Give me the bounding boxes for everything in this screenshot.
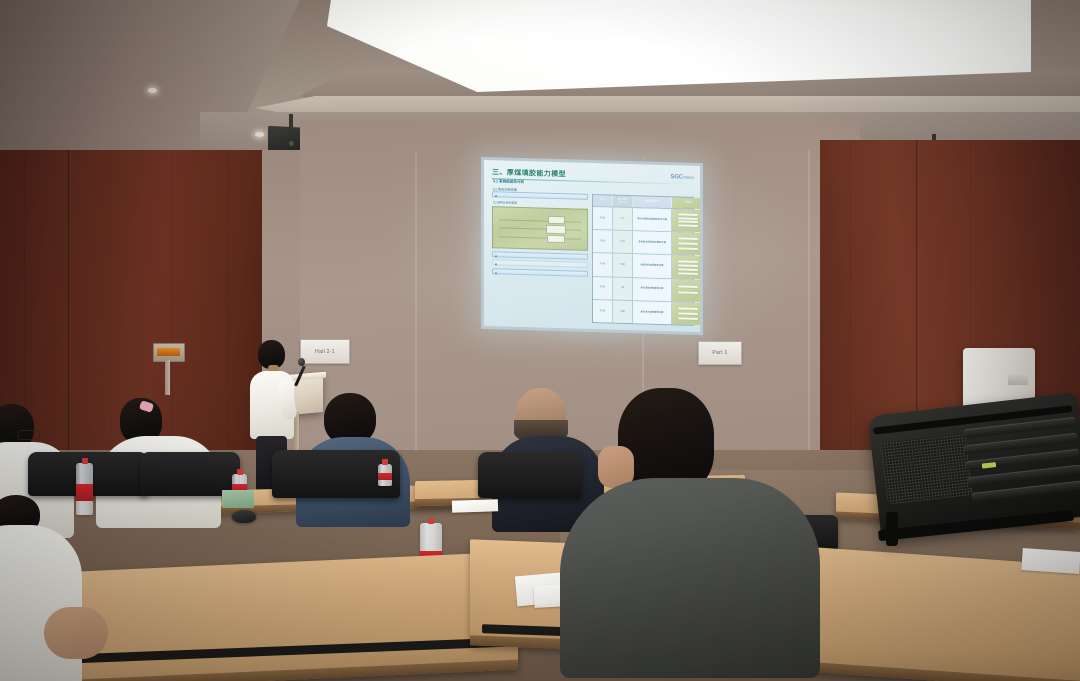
wood-grain xyxy=(110,150,111,480)
table-cell-desc: 填充式填胶结构模型技术方案 xyxy=(633,208,672,231)
slide-text-block xyxy=(492,259,588,268)
slide-data-table: 序号 技术参数 (kN·m) 结构功能描述 示意图 TJ-01 2.1 填充式填… xyxy=(592,194,694,326)
mini-bar xyxy=(678,238,698,241)
mini-diagram xyxy=(673,212,700,229)
attendee-arm xyxy=(44,607,108,659)
wall-seam xyxy=(808,150,810,460)
wood-grain xyxy=(228,150,229,480)
table-header-cell: 示意图 xyxy=(672,197,700,209)
table-cell-figure xyxy=(672,279,700,302)
table-row: TJ-01 2.1 填充式填胶结构模型技术方案 xyxy=(593,206,693,232)
paper-stack xyxy=(452,499,498,513)
attendee-torso xyxy=(560,478,820,678)
downlight xyxy=(255,132,264,137)
diagram-lane xyxy=(499,236,582,239)
bottle-label xyxy=(378,473,392,480)
table-cell-value: 1.8 xyxy=(613,277,633,300)
wood-grain xyxy=(850,140,851,490)
mini-diagram xyxy=(673,259,700,276)
mini-bar xyxy=(678,224,698,227)
table-cell-figure xyxy=(672,256,700,279)
projection-screen: 三、厚煤填胶能力模型 SGC中国石化 3.1 系统组成及分析 (1) 填充分析结… xyxy=(481,157,703,335)
mini-bar xyxy=(678,313,698,316)
mini-diagram xyxy=(673,235,700,252)
wall-seam xyxy=(415,152,417,452)
mini-bar xyxy=(678,221,698,224)
mini-bar xyxy=(678,269,698,272)
slide-diagram-image xyxy=(492,206,588,251)
table-cell-desc: 柔性填胶结构模型方案 xyxy=(633,278,672,301)
speaker-driver-dot xyxy=(289,141,294,146)
cart-label-tag xyxy=(982,462,996,469)
cart-mesh-panel xyxy=(881,433,973,504)
slide-text-block xyxy=(492,251,588,260)
table-cell-code: TJ-03 xyxy=(593,253,613,276)
wall-sign-right: Part 1 xyxy=(698,341,742,365)
wood-grain xyxy=(172,150,173,480)
attendee-head xyxy=(516,388,566,442)
table-row: TJ-04 1.8 柔性填胶结构模型方案 xyxy=(593,276,693,302)
wood-seam xyxy=(68,150,71,480)
wall-plate-stem xyxy=(165,360,170,395)
logo-text: SGC xyxy=(670,174,682,180)
diagram-shape xyxy=(546,225,567,234)
table-cell-figure xyxy=(672,232,700,255)
slide-text-block xyxy=(492,268,588,277)
table-row: TJ-02 3.45 多层复合填胶结构模型方案 xyxy=(593,229,693,255)
slide-title: 三、厚煤填胶能力模型 xyxy=(492,167,566,179)
table-row: TJ-03 5.60 填胶结构加固模型方案 xyxy=(593,252,693,278)
company-logo: SGC中国石化 xyxy=(670,174,694,181)
downlight xyxy=(148,88,157,93)
office-chair xyxy=(478,452,582,498)
mini-bar xyxy=(678,272,698,275)
microphone-icon xyxy=(298,358,305,366)
mini-bar xyxy=(678,291,698,294)
table-cell-value: 3.45 xyxy=(613,231,633,254)
mini-diagram xyxy=(673,282,700,299)
mini-bar xyxy=(678,317,698,320)
mini-bar xyxy=(678,308,698,311)
table-cell-figure xyxy=(672,302,700,325)
slide-left-column: (2) 结构分析示意图 xyxy=(492,191,588,323)
mini-diagram xyxy=(673,305,700,322)
mini-bar xyxy=(678,260,698,263)
mini-bar xyxy=(678,243,698,246)
conference-room-photo: Hall 2-1 Part 1 三、厚煤填胶能力模型 SGC中国石化 3.1 系… xyxy=(0,0,1080,681)
diagram-shape xyxy=(548,215,565,224)
mini-bar xyxy=(678,247,698,250)
ac-display-panel[interactable] xyxy=(1008,374,1028,385)
table-cell-code: TJ-05 xyxy=(593,300,613,323)
water-bottle[interactable] xyxy=(378,464,392,486)
mini-bar xyxy=(678,214,698,217)
mini-bar xyxy=(678,265,698,268)
table-cell-code: TJ-02 xyxy=(593,230,613,253)
presentation-slide: 三、厚煤填胶能力模型 SGC中国石化 3.1 系统组成及分析 (1) 填充分析结… xyxy=(484,160,700,332)
cart-leg xyxy=(886,512,898,546)
mini-bar xyxy=(678,217,698,220)
computer-mouse-icon[interactable] xyxy=(232,510,256,523)
table-row: TJ-05 4.05 复合填充结构模型方案 xyxy=(593,299,693,325)
table-cell-value: 5.60 xyxy=(613,254,633,277)
indicator-led-icon xyxy=(157,348,180,356)
diagram-lane xyxy=(499,219,582,222)
paper-stack xyxy=(1021,548,1080,574)
table-cell-code: TJ-01 xyxy=(593,207,613,230)
mini-bar xyxy=(678,286,698,289)
glasses-icon xyxy=(18,430,40,440)
notebook xyxy=(222,490,254,508)
diagram-lane xyxy=(499,228,582,231)
diagram-shape xyxy=(547,235,566,244)
table-cell-desc: 多层复合填胶结构模型方案 xyxy=(633,231,672,254)
bottle-label xyxy=(76,484,93,502)
table-cell-figure xyxy=(672,209,700,232)
wall-sign-left: Hall 2-1 xyxy=(300,339,350,364)
table-cell-desc: 复合填充结构模型方案 xyxy=(633,301,672,324)
logo-subtext: 中国石化 xyxy=(683,175,694,179)
water-bottle[interactable] xyxy=(76,463,93,515)
table-cell-value: 4.05 xyxy=(613,300,633,323)
conference-table-front xyxy=(58,552,518,681)
slide-section-heading: 3.1 系统组成及分析 xyxy=(493,179,524,185)
table-header-cell: 序号 xyxy=(593,195,613,207)
table-cell-code: TJ-04 xyxy=(593,277,613,300)
table-cell-desc: 填胶结构加固模型方案 xyxy=(633,255,672,278)
slide-text-block xyxy=(492,191,588,200)
table-header-cell: 技术参数 (kN·m) xyxy=(613,196,633,208)
table-cell-value: 2.1 xyxy=(613,208,633,231)
